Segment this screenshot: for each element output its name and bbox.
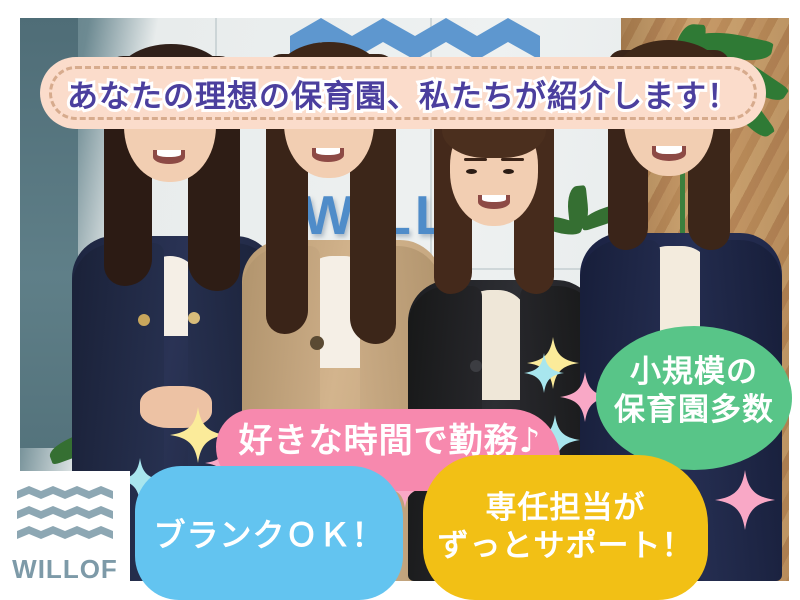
- canvas-margin-left: [0, 0, 20, 471]
- willof-wordmark: WILLOF: [12, 554, 118, 585]
- zigzag-wave-icon: [17, 486, 113, 548]
- blob-green-label: 小規模の 保育園多数: [596, 353, 792, 430]
- canvas-margin-top: [0, 0, 800, 18]
- headline-text: あなたの理想の保育園、私たちが紹介します！: [67, 71, 739, 116]
- poster-canvas: WILL: [0, 0, 800, 600]
- headline-banner: あなたの理想の保育園、私たちが紹介します！: [40, 57, 766, 129]
- canvas-margin-right: [789, 0, 800, 600]
- sparkle-cyan-icon: [524, 353, 564, 393]
- blob-blue-label: ブランクＯＫ！: [140, 516, 398, 556]
- sparkle-pink-icon: [715, 470, 775, 530]
- willof-logo-box: WILLOF: [0, 471, 130, 600]
- blob-yellow-label: 専任担当が ずっとサポート！: [428, 489, 703, 566]
